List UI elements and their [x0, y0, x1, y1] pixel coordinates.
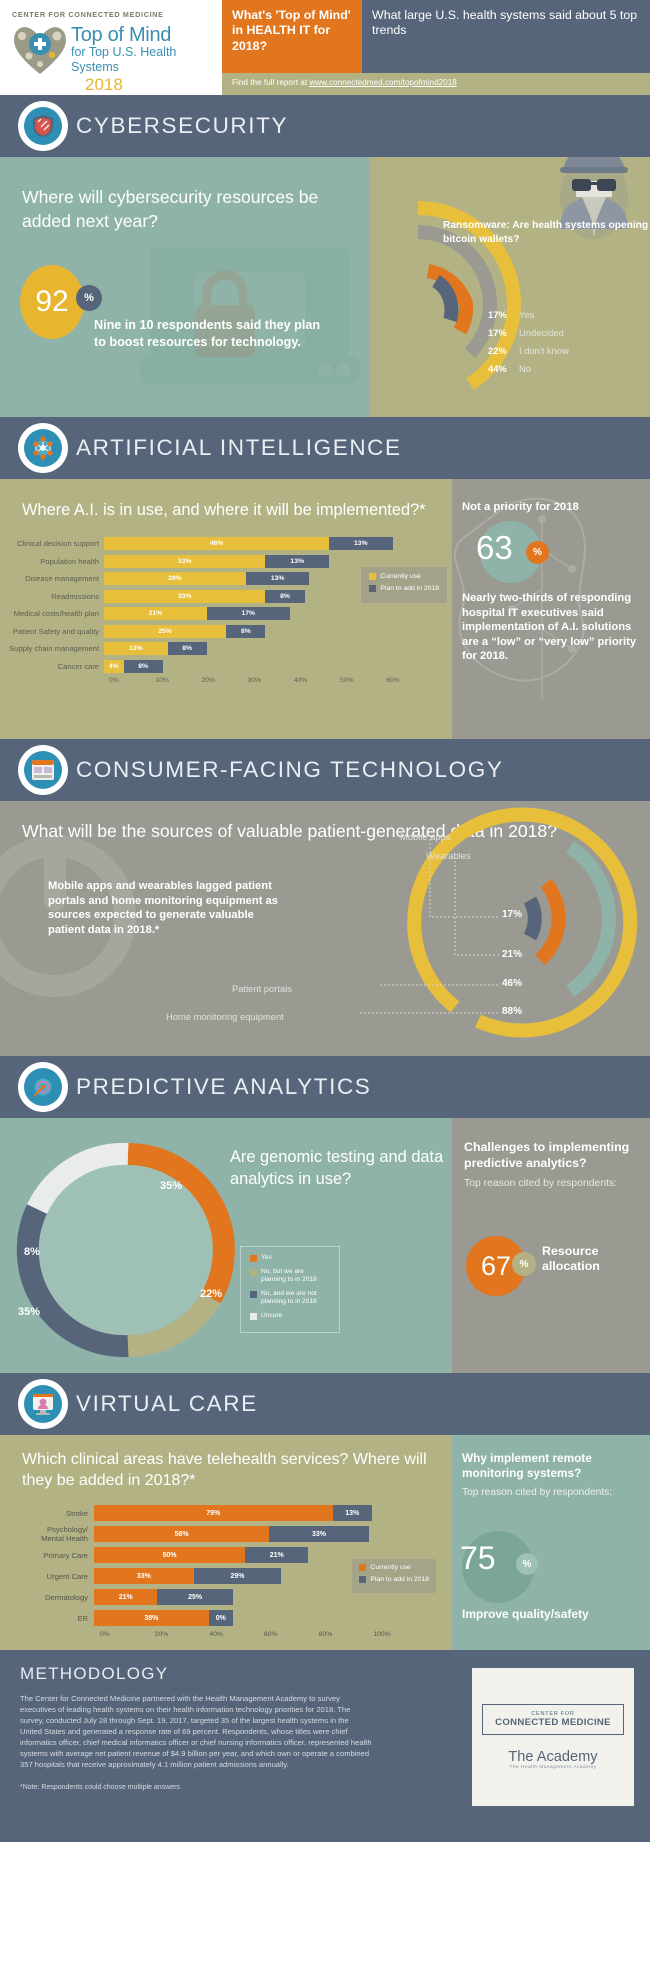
virtual-bar-track: 58%33%: [94, 1526, 428, 1542]
cybersecurity-stat-circle: 92: [20, 265, 84, 339]
consumer-label-mobile-apps: Mobile apps: [400, 831, 451, 842]
ai-bar-row: Medical costs/health plan21%17%: [8, 607, 438, 620]
predictive-stat-number: 67: [481, 1251, 511, 1282]
predictive-chart-legend: Yes No, but we are planning to in 2018 N…: [240, 1246, 340, 1333]
section-banner-artificial-intelligence: ARTIFICIAL INTELLIGENCE: [0, 417, 650, 479]
virtual-bar-segment: 25%: [157, 1589, 233, 1605]
ai-bar-segment: 4%: [104, 660, 124, 673]
report-link-prefix: Find the full report at: [232, 78, 309, 87]
virtual-stat-percent: %: [516, 1553, 538, 1575]
section-banner-predictive-analytics: PREDICTIVE ANALYTICS: [0, 1056, 650, 1118]
legend-label: Unsure: [261, 1312, 282, 1321]
legend-swatch: [250, 1291, 257, 1298]
ransomware-question: Ransomware: Are health systems opening b…: [443, 219, 650, 246]
legend-item: Plan to add in 2018: [369, 585, 439, 592]
virtual-stat-number: 75: [460, 1540, 496, 1577]
consumer-pct-wearables: 21%: [502, 949, 522, 960]
ai-bar-track: 4%8%: [104, 660, 438, 673]
section-banner-cybersecurity: CYBERSECURITY: [0, 95, 650, 157]
ai-chart-legend: Currently use Plan to add in 2018: [361, 567, 447, 603]
virtual-bar-label: Stroke: [8, 1509, 94, 1518]
video-consult-icon: [18, 1379, 68, 1429]
ai-bar-row: Supply chain management13%8%: [8, 642, 438, 655]
predictive-challenge-title: Challenges to implementing predictive an…: [464, 1140, 640, 1171]
virtual-bar-label: Psychology/Mental Health: [8, 1525, 94, 1543]
ai-axis-tick: 40%: [294, 677, 340, 684]
consumer-pct-home-monitoring: 88%: [502, 1006, 522, 1017]
predictive-challenge-sub: Top reason cited by respondents:: [464, 1177, 640, 1191]
ai-axis-tick: 20%: [201, 677, 247, 684]
ai-bar-segment: 17%: [207, 607, 290, 620]
virtual-why-title: Why implement remote monitoring systems?: [462, 1451, 642, 1481]
virtual-axis-tick: 40%: [209, 1631, 264, 1638]
ai-bar-row: Clinical decision support46%13%: [8, 537, 438, 550]
ai-bar-segment: 8%: [226, 625, 265, 638]
section-artificial-intelligence: Where A.I. is in use, and where it will …: [0, 479, 650, 739]
ai-bar-segment: 8%: [168, 642, 207, 655]
section-banner-virtual-care: VIRTUAL CARE: [0, 1373, 650, 1435]
ccm-logo-line2: CONNECTED MEDICINE: [495, 1717, 611, 1728]
report-link[interactable]: www.connectedmed.com/topofmind2018: [309, 78, 456, 87]
ai-bar-track: 33%13%: [104, 555, 438, 568]
cybersecurity-stat-caption: Nine in 10 respondents said they plan to…: [94, 317, 334, 350]
legend-swatch: [369, 573, 376, 580]
ai-axis-tick: 60%: [386, 677, 432, 684]
predictive-donut-chart: [10, 1138, 250, 1363]
ai-bar-label: Patient Safety and quality: [8, 627, 104, 636]
legend-item: Currently use: [369, 573, 439, 580]
virtual-bar-label: Dermatology: [8, 1593, 94, 1602]
academy-logo: The Academy The Health Management Academ…: [508, 1749, 597, 1770]
virtual-bar-segment: 21%: [94, 1589, 157, 1605]
legend-item: 17%Yes: [488, 309, 569, 320]
section-title-artificial-intelligence: ARTIFICIAL INTELLIGENCE: [76, 435, 402, 461]
section-title-cybersecurity: CYBERSECURITY: [76, 113, 288, 139]
report-link-bar: Find the full report at www.connectedmed…: [222, 73, 650, 95]
ai-stat-percent: %: [526, 541, 549, 564]
legend-pct: 17%: [488, 309, 514, 320]
predictive-question: Are genomic testing and data analytics i…: [230, 1146, 452, 1190]
legend-swatch: [250, 1313, 257, 1320]
promo-headline-slate: What large U.S. health systems said abou…: [362, 0, 650, 73]
section-consumer-facing-technology: What will be the sources of valuable pat…: [0, 801, 650, 1056]
virtual-bar-track: 38%0%: [94, 1610, 428, 1626]
target-icon: [18, 1062, 68, 1112]
virtual-bar-segment: 50%: [94, 1547, 245, 1563]
ai-x-axis: 0%10%20%30%40%50%60%: [109, 677, 438, 684]
virtual-bar-segment: 21%: [245, 1547, 308, 1563]
virtual-bar-segment: 0%: [209, 1610, 233, 1626]
cybersecurity-stat-number: 92: [35, 285, 68, 319]
predictive-pct-no-not-planning: 35%: [18, 1306, 40, 1318]
legend-item: Yes: [250, 1254, 330, 1263]
legend-swatch: [250, 1269, 257, 1276]
section-title-predictive-analytics: PREDICTIVE ANALYTICS: [76, 1074, 371, 1100]
legend-item: 44%No: [488, 363, 569, 374]
legend-label: Currently use: [370, 1564, 410, 1571]
consumer-label-patient-portals: Patient portals: [232, 983, 292, 994]
legend-label: Yes: [261, 1254, 272, 1263]
consumer-pct-patient-portals: 46%: [502, 978, 522, 989]
consumer-radial-chart: Mobile apps Wearables 17% 21% 46% 88%: [360, 801, 650, 1045]
virtual-stat-label: Improve quality/safety: [462, 1607, 589, 1622]
consumer-label-home-monitoring: Home monitoring equipment: [166, 1011, 284, 1022]
ai-bar-label: Readmissions: [8, 592, 104, 601]
ai-bar-segment: 21%: [104, 607, 207, 620]
consumer-body-text: Mobile apps and wearables lagged patient…: [48, 879, 278, 937]
ai-bar-row: Population health33%13%: [8, 555, 438, 568]
virtual-question: Which clinical areas have telehealth ser…: [22, 1449, 452, 1491]
virtual-axis-tick: 20%: [155, 1631, 210, 1638]
section-virtual-care: Which clinical areas have telehealth ser…: [0, 1435, 650, 1650]
virtual-bar-segment: 33%: [269, 1526, 369, 1542]
ai-bar-label: Disease management: [8, 574, 104, 583]
methodology-note: *Note: Respondents could choose multiple…: [20, 1782, 372, 1793]
legend-pct: 44%: [488, 363, 514, 374]
ai-axis-tick: 50%: [340, 677, 386, 684]
legend-label: Undecided: [519, 327, 564, 338]
ai-bar-row: Patient Safety and quality25%8%: [8, 625, 438, 638]
ai-bar-segment: 29%: [104, 572, 246, 585]
brand-logo: CENTER FOR CONNECTED MEDICINE Top of Min…: [0, 0, 222, 95]
ai-question: Where A.I. is in use, and where it will …: [22, 499, 452, 521]
logo-kicker: CENTER FOR CONNECTED MEDICINE: [12, 10, 222, 19]
academy-logo-line2: The Health Management Academy: [508, 1765, 597, 1770]
promo-headline-orange: What's 'Top of Mind' in HEALTH IT for 20…: [222, 0, 362, 73]
hacker-illustration-icon: [554, 157, 634, 225]
ai-axis-tick: 10%: [155, 677, 201, 684]
predictive-pct-unsure: 8%: [24, 1246, 40, 1258]
virtual-axis-tick: 60%: [264, 1631, 319, 1638]
ai-bar-track: 13%8%: [104, 642, 438, 655]
legend-label: No, and we are not planning to in 2018: [261, 1290, 330, 1307]
virtual-bar-row: ER38%0%: [8, 1610, 428, 1626]
section-title-virtual-care: VIRTUAL CARE: [76, 1391, 258, 1417]
virtual-bar-label: Primary Care: [8, 1551, 94, 1560]
heart-dots-icon: [12, 22, 68, 78]
ai-bar-segment: 33%: [104, 590, 265, 603]
legend-item: 17%Undecided: [488, 327, 569, 338]
ai-bar-chart: Clinical decision support46%13%Populatio…: [8, 537, 438, 684]
ai-bar-label: Population health: [8, 557, 104, 566]
section-methodology: METHODOLOGY The Center for Connected Med…: [0, 1650, 650, 1842]
virtual-bar-segment: 33%: [94, 1568, 194, 1584]
legend-label: I don't know: [519, 345, 569, 356]
legend-item: No, and we are not planning to in 2018: [250, 1290, 330, 1307]
virtual-bar-segment: 58%: [94, 1526, 269, 1542]
ai-bar-segment: 25%: [104, 625, 226, 638]
legend-item: 22%I don't know: [488, 345, 569, 356]
predictive-pct-yes: 35%: [160, 1180, 182, 1192]
predictive-pct-no-planning: 22%: [200, 1288, 222, 1300]
virtual-why-sub: Top reason cited by respondents:: [462, 1486, 642, 1499]
logo-title-primary: Top of Mind: [71, 25, 222, 45]
browser-window-icon: [18, 745, 68, 795]
section-banner-consumer-facing-technology: CONSUMER-FACING TECHNOLOGY: [0, 739, 650, 801]
ai-bar-track: 25%8%: [104, 625, 438, 638]
legend-label: Plan to add in 2018: [380, 585, 439, 592]
ai-bar-label: Medical costs/health plan: [8, 609, 104, 618]
virtual-bar-track: 79%13%: [94, 1505, 428, 1521]
legend-swatch: [250, 1255, 257, 1262]
consumer-pct-mobile-apps: 17%: [502, 909, 522, 920]
methodology-body: The Center for Connected Medicine partne…: [20, 1693, 372, 1770]
virtual-bar-label: Urgent Care: [8, 1572, 94, 1581]
ai-bar-segment: 13%: [246, 572, 310, 585]
ai-bar-label: Clinical decision support: [8, 539, 104, 548]
ai-bar-track: 46%13%: [104, 537, 438, 550]
legend-label: No, but we are planning to in 2018: [261, 1268, 330, 1285]
ai-bar-label: Cancer care: [8, 662, 104, 671]
legend-swatch: [359, 1564, 366, 1571]
logo-year: 2018: [85, 75, 222, 94]
logo-title-secondary: for Top U.S. Health Systems: [71, 45, 222, 75]
ai-bar-label: Supply chain management: [8, 644, 104, 653]
ccm-logo: CENTER FOR CONNECTED MEDICINE: [482, 1704, 624, 1735]
ai-stat-body: Nearly two-thirds of responding hospital…: [462, 591, 650, 664]
virtual-bar-row: Psychology/Mental Health58%33%: [8, 1526, 428, 1542]
legend-swatch: [359, 1576, 366, 1583]
ai-axis-tick: 30%: [248, 677, 294, 684]
predictive-stat-percent: %: [512, 1252, 536, 1276]
virtual-bar-segment: 29%: [194, 1568, 282, 1584]
legend-label: Plan to add in 2018: [370, 1576, 429, 1583]
virtual-bar-segment: 13%: [333, 1505, 372, 1521]
virtual-bar-segment: 38%: [94, 1610, 209, 1626]
infographic-page: CENTER FOR CONNECTED MEDICINE Top of Min…: [0, 0, 650, 1987]
legend-pct: 17%: [488, 327, 514, 338]
legend-label: No: [519, 363, 531, 374]
legend-label: Yes: [519, 309, 534, 320]
virtual-chart-legend: Currently use Plan to add in 2018: [352, 1559, 436, 1593]
legend-pct: 22%: [488, 345, 514, 356]
ai-axis-tick: 0%: [109, 677, 155, 684]
methodology-title: METHODOLOGY: [20, 1664, 372, 1684]
legend-item: Plan to add in 2018: [359, 1576, 429, 1583]
legend-item: Unsure: [250, 1312, 330, 1321]
ai-bar-segment: 13%: [329, 537, 393, 550]
ai-bar-segment: 8%: [124, 660, 163, 673]
virtual-axis-tick: 0%: [100, 1631, 155, 1638]
ransomware-legend: 17%Yes 17%Undecided 22%I don't know 44%N…: [488, 309, 569, 381]
virtual-x-axis: 0%20%40%60%80%100%: [100, 1631, 428, 1638]
virtual-bar-segment: 79%: [94, 1505, 333, 1521]
cybersecurity-stat-percent: %: [76, 285, 102, 311]
legend-swatch: [369, 585, 376, 592]
ai-bar-segment: 13%: [104, 642, 168, 655]
section-cybersecurity: Where will cybersecurity resources be ad…: [0, 157, 650, 417]
ai-bar-track: 21%17%: [104, 607, 438, 620]
shield-icon: [18, 101, 68, 151]
academy-logo-line1: The Academy: [508, 1749, 597, 1765]
virtual-bar-label: ER: [8, 1614, 94, 1623]
predictive-stat-label: Resource allocation: [542, 1244, 650, 1274]
virtual-axis-tick: 80%: [319, 1631, 374, 1638]
virtual-axis-tick: 100%: [373, 1631, 428, 1638]
ai-bar-segment: 13%: [265, 555, 329, 568]
section-title-consumer-facing-technology: CONSUMER-FACING TECHNOLOGY: [76, 757, 503, 783]
section-predictive-analytics: 35% 8% 35% 22% Are genomic testing and d…: [0, 1118, 650, 1373]
consumer-label-wearables: Wearables: [426, 850, 471, 861]
legend-item: Currently use: [359, 1564, 429, 1571]
network-nodes-icon: [18, 423, 68, 473]
legend-label: Currently use: [380, 573, 420, 580]
ai-bar-segment: 8%: [265, 590, 304, 603]
ai-bar-segment: 46%: [104, 537, 329, 550]
legend-item: No, but we are planning to in 2018: [250, 1268, 330, 1285]
ai-bar-segment: 33%: [104, 555, 265, 568]
partner-logos-card: CENTER FOR CONNECTED MEDICINE The Academ…: [472, 1668, 634, 1806]
ai-bar-row: Cancer care4%8%: [8, 660, 438, 673]
page-header: CENTER FOR CONNECTED MEDICINE Top of Min…: [0, 0, 650, 95]
ai-stat-number: 63: [476, 529, 513, 567]
virtual-bar-row: Stroke79%13%: [8, 1505, 428, 1521]
